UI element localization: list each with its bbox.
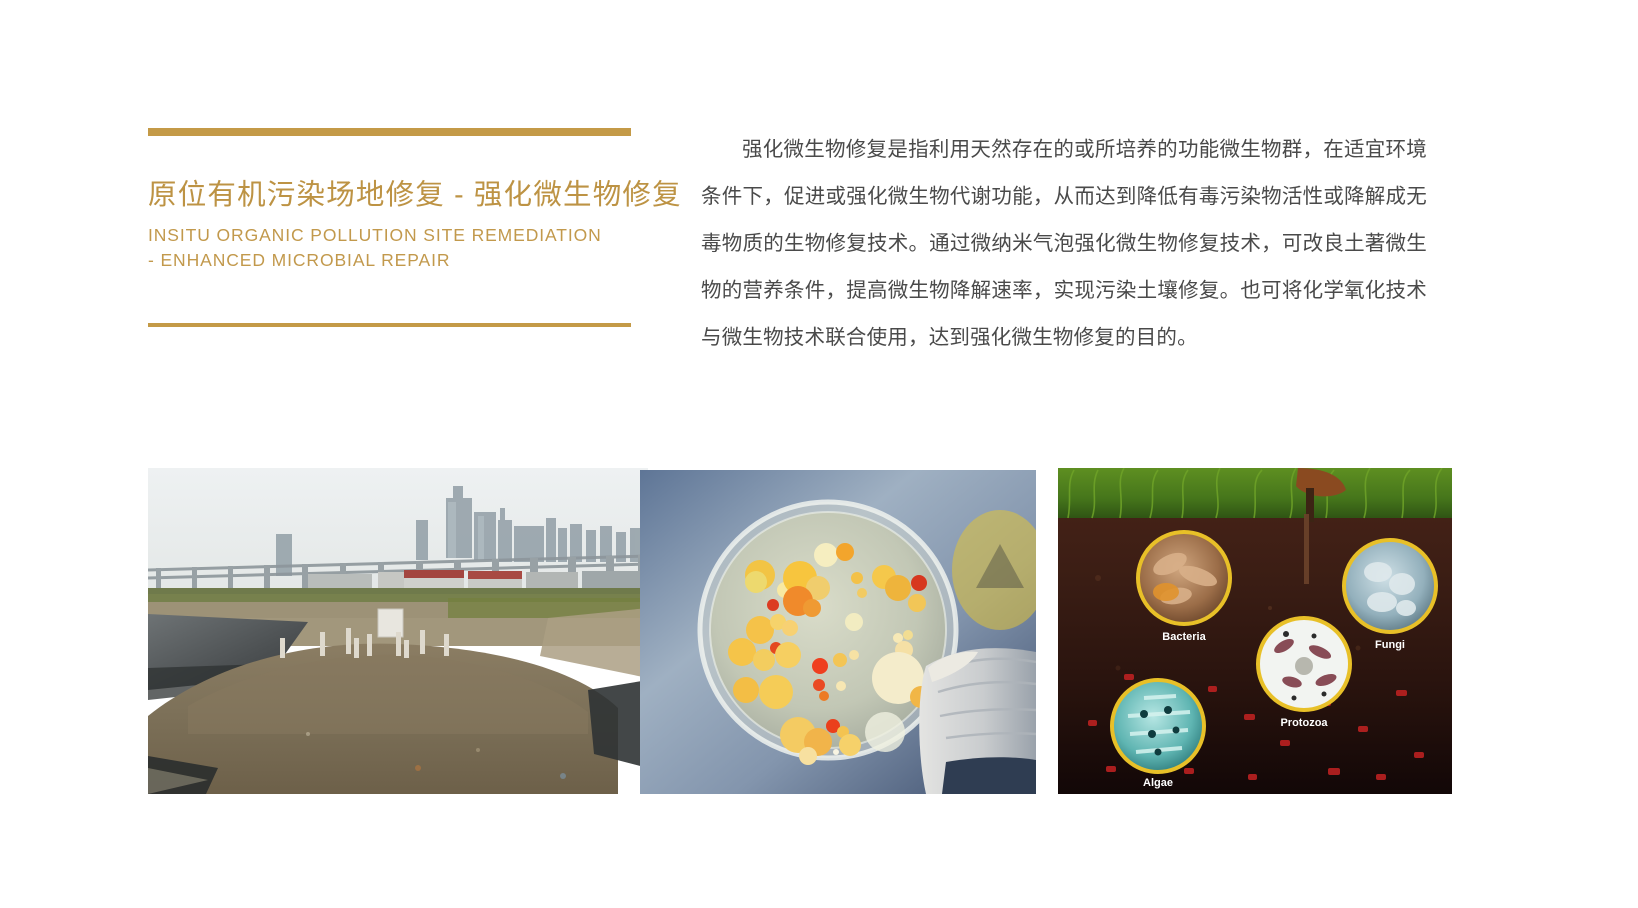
bacteria-label: Bacteria: [1162, 631, 1206, 643]
soil-microorganism-diagram-photo: Bacteria Fungi: [1058, 468, 1452, 794]
page-subtitle-english: INSITU ORGANIC POLLUTION SITE REMEDIATIO…: [148, 223, 631, 273]
page-title-chinese: 原位有机污染场地修复 - 强化微生物修复: [148, 180, 631, 211]
photo-1-graphic: [148, 468, 648, 794]
page-subtitle-line-2: - ENHANCED MICROBIAL REPAIR: [148, 248, 631, 273]
body-text-block: 强化微生物修复是指利用天然存在的或所培养的功能微生物群，在适宜环境条件下，促进或…: [701, 126, 1427, 361]
page-subtitle-line-1: INSITU ORGANIC POLLUTION SITE REMEDIATIO…: [148, 223, 631, 248]
accent-rule-top: [148, 128, 631, 136]
photo-2-graphic: [640, 470, 1036, 794]
slide-canvas: 原位有机污染场地修复 - 强化微生物修复 INSITU ORGANIC POLL…: [0, 0, 1638, 908]
industrial-remediation-site-photo: [148, 468, 648, 794]
protozoa-label: Protozoa: [1280, 717, 1328, 729]
petri-dish-culture-photo: [640, 470, 1036, 794]
photo-3-graphic: Bacteria Fungi: [1058, 468, 1452, 794]
body-paragraph: 强化微生物修复是指利用天然存在的或所培养的功能微生物群，在适宜环境条件下，促进或…: [701, 126, 1427, 361]
fungi-label: Fungi: [1375, 639, 1405, 651]
accent-rule-bottom: [148, 323, 631, 327]
title-block: 原位有机污染场地修复 - 强化微生物修复 INSITU ORGANIC POLL…: [148, 128, 631, 273]
algae-label: Algae: [1143, 777, 1173, 789]
